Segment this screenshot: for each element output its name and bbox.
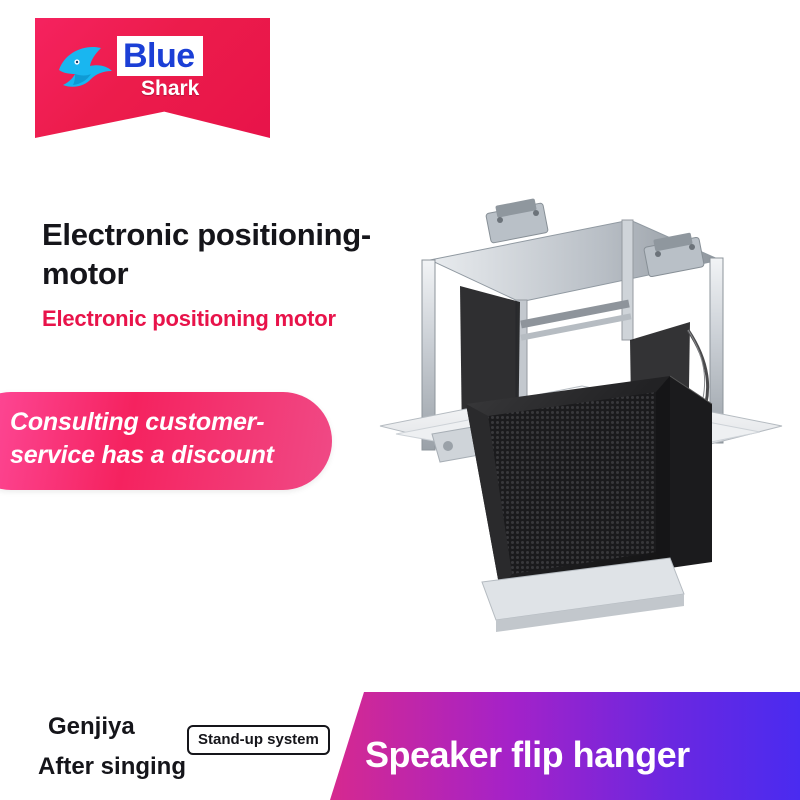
product-image [370, 190, 790, 650]
brand-ribbon: Blue Shark [35, 18, 270, 138]
discount-badge-label: Consulting customer-service has a discou… [10, 406, 310, 472]
brand-ribbon-inner: Blue Shark [35, 18, 270, 138]
brand-name-secondary: Shark [117, 77, 203, 101]
footer-chip-badge: Stand-up system [187, 725, 330, 755]
page-title: Electronic positioning-motor [42, 215, 382, 293]
shark-logo-icon [55, 40, 115, 95]
footer-title: Speaker flip hanger [365, 734, 795, 776]
footer-bar: Genjiya After singing Stand-up system Sp… [0, 692, 800, 800]
brand-wordmark: Blue Shark [117, 36, 203, 101]
discount-badge[interactable]: Consulting customer-service has a discou… [0, 392, 332, 490]
footer-line-2: After singing [38, 752, 186, 782]
product-banner-page: Blue Shark Electronic positioning-motor … [0, 0, 800, 800]
page-subtitle: Electronic positioning motor [42, 305, 402, 333]
footer-line-1: Genjiya [48, 712, 135, 742]
brand-name-primary: Blue [117, 36, 203, 76]
